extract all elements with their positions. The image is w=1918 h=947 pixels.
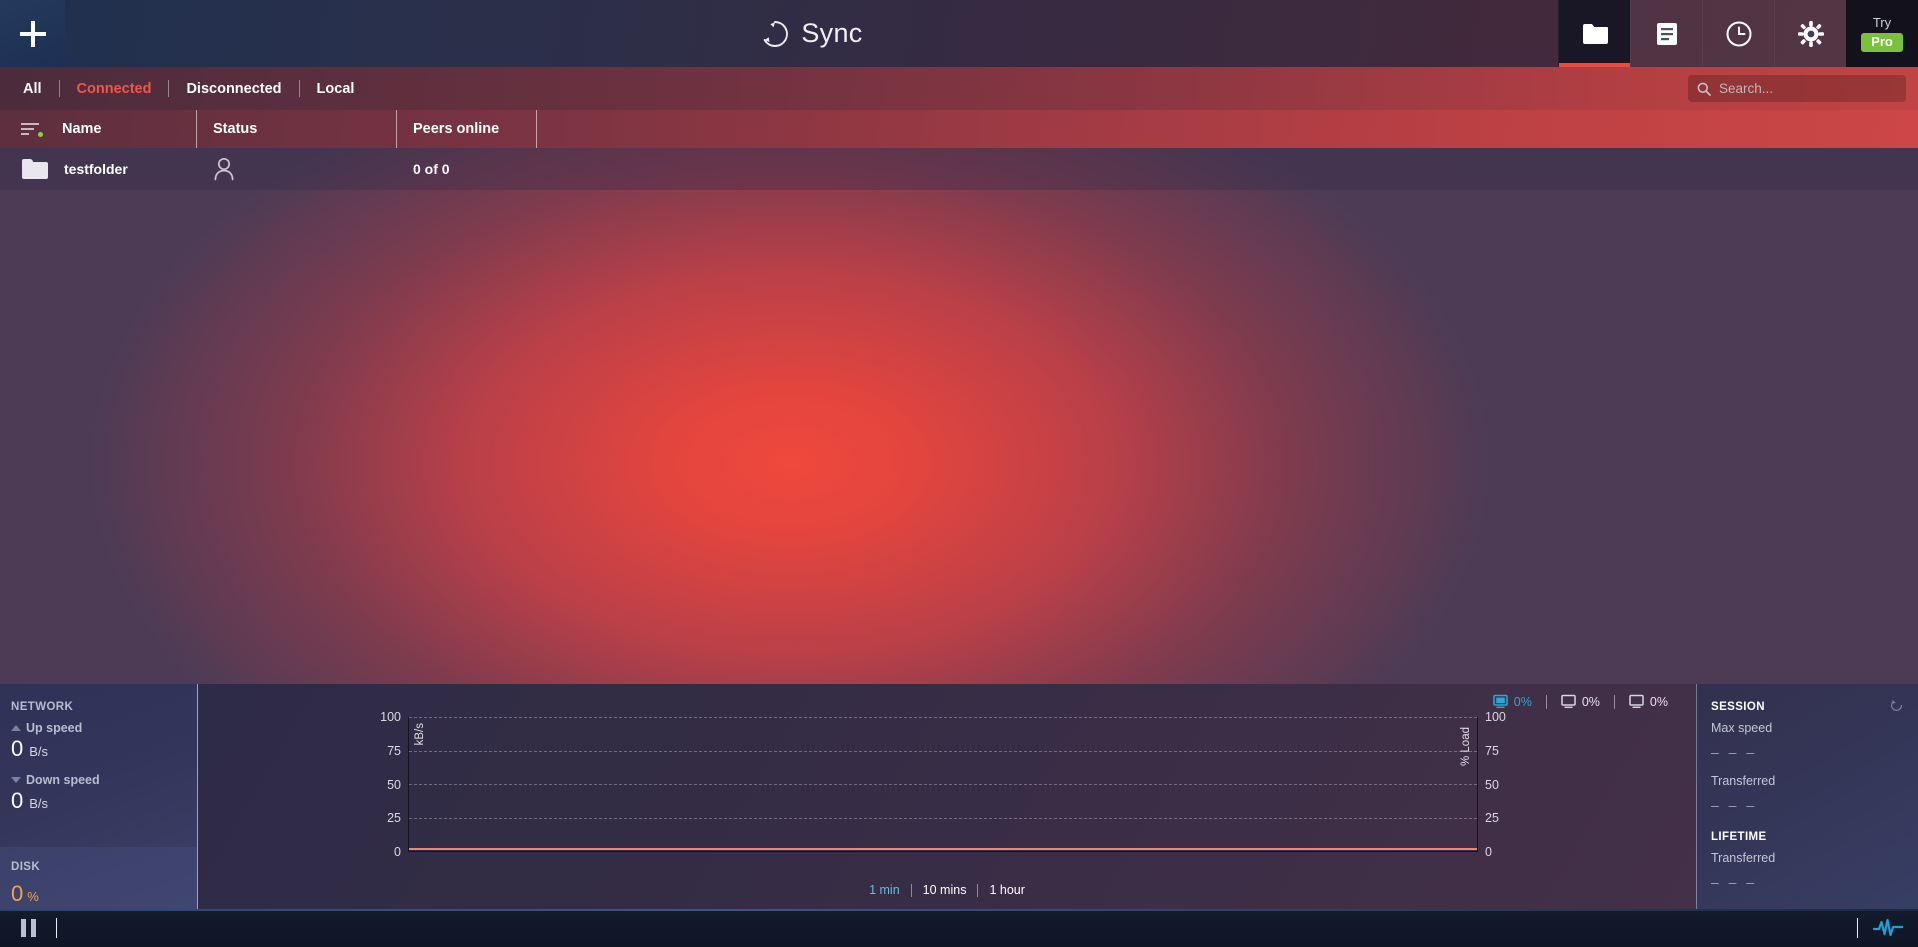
header-nav: Try Pro: [1558, 0, 1918, 67]
chart-series-line: [409, 848, 1477, 850]
up-speed-value-row: 0 B/s: [11, 736, 197, 762]
filter-tab-disconnected[interactable]: Disconnected: [169, 81, 298, 97]
monitor-icon: [1493, 694, 1508, 709]
column-header-peers[interactable]: Peers online: [397, 110, 537, 148]
down-speed-value-row: 0 B/s: [11, 788, 197, 814]
network-chart-panel: 0% 0% 0%: [197, 684, 1696, 909]
table-header: Name Status Peers online: [0, 110, 1918, 148]
gridline: [409, 784, 1477, 785]
filter-tab-connected[interactable]: Connected: [60, 81, 169, 97]
session-transferred-value: – – –: [1711, 797, 1918, 813]
filter-tab-all[interactable]: All: [6, 81, 59, 97]
cpu-legend-item-2[interactable]: 0%: [1547, 694, 1614, 709]
folder-icon: [1582, 23, 1608, 45]
table-row[interactable]: testfolder 0 of 0: [0, 148, 1918, 190]
brand-name: Sync: [801, 18, 862, 49]
column-header-status-label: Status: [213, 121, 257, 137]
cpu-legend: 0% 0% 0%: [1479, 694, 1682, 709]
y2-tick-75: 75: [1485, 744, 1523, 758]
down-speed-unit: B/s: [29, 796, 48, 811]
down-speed-value: 0: [11, 788, 23, 814]
up-speed-value: 0: [11, 736, 23, 762]
brand-logo: Sync: [65, 0, 1558, 67]
status-bar: [0, 909, 1918, 947]
plus-icon: [20, 21, 46, 47]
add-folder-button[interactable]: [0, 0, 65, 67]
gridline: [409, 751, 1477, 752]
down-speed-row: Down speed: [11, 773, 197, 787]
y-tick-75: 75: [363, 744, 401, 758]
y-tick-0: 0: [363, 845, 401, 859]
person-icon: [213, 157, 235, 181]
down-speed-label: Down speed: [26, 773, 100, 787]
y2-axis-label: % Load: [1460, 727, 1472, 766]
row-status-cell: [197, 157, 397, 181]
reset-circular-arrow-icon: [1889, 698, 1904, 713]
document-icon: [1656, 22, 1678, 46]
lifetime-transferred-value: – – –: [1711, 874, 1918, 890]
status-bar-right: [1857, 909, 1918, 947]
arrow-down-icon: [11, 777, 21, 783]
up-speed-label: Up speed: [26, 721, 82, 735]
folder-name: testfolder: [64, 161, 128, 177]
divider: [0, 909, 1918, 911]
pro-badge: Pro: [1861, 33, 1903, 52]
nav-button-history[interactable]: [1702, 0, 1774, 67]
disk-value: 0: [11, 881, 23, 907]
network-panel: NETWORK Up speed 0 B/s Down speed 0 B/s: [0, 684, 197, 909]
clock-icon: [1726, 21, 1752, 47]
filter-active-dot: [38, 132, 43, 137]
cpu-legend-item-3[interactable]: 0%: [1615, 694, 1682, 709]
monitor-icon: [1629, 694, 1644, 709]
chart-plot-area: kB/s % Load: [408, 717, 1478, 852]
y-tick-25: 25: [363, 811, 401, 825]
y2-tick-100: 100: [1485, 710, 1523, 724]
app-header: Sync: [0, 0, 1918, 67]
search-box[interactable]: [1688, 75, 1906, 102]
gridline: [409, 818, 1477, 819]
gridline: [409, 717, 1477, 718]
session-title: SESSION: [1711, 701, 1918, 713]
column-header-name[interactable]: Name: [0, 110, 197, 148]
column-header-status[interactable]: Status: [197, 110, 397, 148]
lifetime-transferred-label: Transferred: [1711, 851, 1918, 865]
max-speed-label: Max speed: [1711, 721, 1918, 735]
row-name-cell: testfolder: [0, 159, 197, 179]
disk-unit: %: [27, 889, 39, 904]
max-speed-value: – – –: [1711, 744, 1918, 760]
reset-icon[interactable]: [1889, 698, 1904, 718]
search-container: [1688, 75, 1906, 102]
divider: [56, 918, 57, 938]
arrow-up-icon: [11, 725, 21, 731]
y-axis-label: kB/s: [414, 723, 426, 745]
time-range-1hour[interactable]: 1 hour: [978, 883, 1035, 897]
disk-value-row: 0 %: [11, 881, 197, 907]
cpu-legend-value-1: 0%: [1514, 695, 1532, 709]
folder-list-area: testfolder 0 of 0: [0, 148, 1918, 684]
try-label: Try: [1873, 15, 1891, 30]
y2-tick-0: 0: [1485, 845, 1523, 859]
session-panel: SESSION Max speed – – – Transferred – – …: [1696, 684, 1918, 909]
y-tick-50: 50: [363, 778, 401, 792]
cpu-legend-item-1[interactable]: 0%: [1479, 694, 1546, 709]
time-range-10mins[interactable]: 10 mins: [912, 883, 978, 897]
up-speed-row: Up speed: [11, 721, 197, 735]
network-stats: NETWORK Up speed 0 B/s Down speed 0 B/s: [0, 684, 197, 847]
y2-tick-25: 25: [1485, 811, 1523, 825]
column-header-peers-label: Peers online: [413, 121, 499, 137]
sync-app-window: Sync: [0, 0, 1918, 947]
search-icon: [1697, 82, 1711, 96]
filter-icon[interactable]: [21, 122, 43, 137]
nav-button-settings[interactable]: [1774, 0, 1846, 67]
lifetime-title: LIFETIME: [1711, 831, 1918, 843]
nav-button-devices[interactable]: [1630, 0, 1702, 67]
y-tick-100: 100: [363, 710, 401, 724]
nav-button-folders[interactable]: [1558, 0, 1630, 67]
time-range-1min[interactable]: 1 min: [858, 883, 911, 897]
activity-button[interactable]: [1858, 909, 1918, 947]
cpu-legend-value-2: 0%: [1582, 695, 1600, 709]
up-speed-unit: B/s: [29, 744, 48, 759]
column-header-name-label: Name: [62, 121, 102, 137]
folder-icon: [22, 159, 48, 179]
activity-pulse-icon: [1873, 918, 1903, 938]
pause-icon: [21, 919, 36, 937]
session-transferred-label: Transferred: [1711, 774, 1918, 788]
sync-circular-arrow-icon: [760, 19, 790, 49]
network-title: NETWORK: [11, 701, 197, 713]
row-peers-cell: 0 of 0: [397, 161, 537, 177]
search-input[interactable]: [1719, 81, 1897, 96]
filter-bar: All Connected Disconnected Local: [0, 67, 1918, 110]
pause-button[interactable]: [0, 909, 56, 947]
disk-panel: DISK 0 %: [0, 847, 197, 909]
gear-icon: [1798, 21, 1824, 47]
disk-title: DISK: [11, 861, 197, 873]
time-range-selector: 1 min 10 mins 1 hour: [198, 883, 1696, 897]
cpu-legend-value-3: 0%: [1650, 695, 1668, 709]
monitor-icon: [1561, 694, 1576, 709]
chart-plot: kB/s % Load 100 75 50 25 0 100 75 50 25 …: [408, 717, 1478, 852]
filter-tab-local[interactable]: Local: [300, 81, 372, 97]
y2-tick-50: 50: [1485, 778, 1523, 792]
try-pro-button[interactable]: Try Pro: [1846, 0, 1918, 67]
bottom-panels: NETWORK Up speed 0 B/s Down speed 0 B/s: [0, 684, 1918, 909]
